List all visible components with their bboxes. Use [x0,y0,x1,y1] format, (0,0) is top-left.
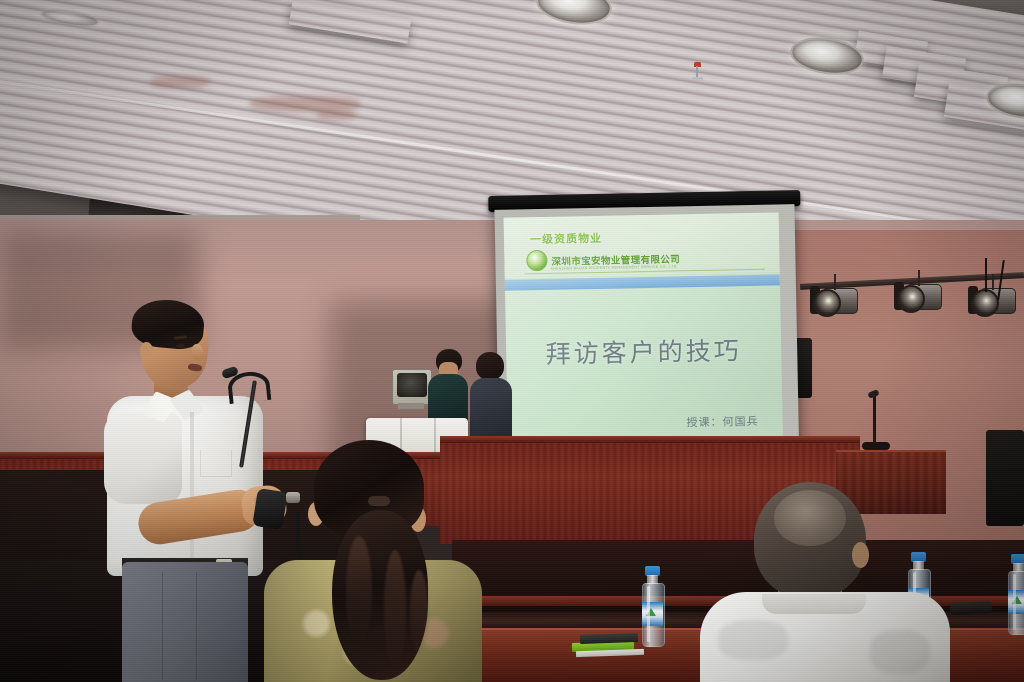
company-logo-icon [526,250,547,271]
bottle-highlight [1013,574,1016,630]
crt-screen [397,373,427,397]
slide-presenter-text: 授课：何国兵 [686,413,758,430]
shirt-fold [718,620,788,660]
woman-hair-tie [368,496,390,506]
bottle-highlight [647,586,650,642]
presenter-trousers [122,562,248,682]
shirt-fold [870,630,930,674]
man-scalp [774,490,846,546]
spotlight-yoke [834,274,836,290]
stage-spotlight [906,284,942,310]
man-attendee [700,470,960,682]
ceiling-stain [316,110,356,120]
presenter-sleeve [104,412,182,504]
background-person-2-head [476,352,504,380]
floor-loudspeaker [986,430,1024,526]
presenter-shirt-pocket [200,450,232,477]
light-cable [985,258,987,292]
spotlight-lens-icon [897,285,925,313]
trouser-pleat [162,572,163,680]
presenter-ear [140,342,153,360]
spotlight-lens-icon [813,289,841,317]
man-shirt-collar [762,594,866,614]
wood-panel-cap [440,436,860,443]
man-ear [852,542,869,568]
podium-mic-base [862,442,890,450]
conference-room-photo: 一级资质物业 深圳市宝安物业管理有限公司 SHENZHEN BAOAN PROP… [0,0,1024,682]
spotlight-lens-icon [971,289,999,317]
crt-monitor-stand [398,403,424,409]
spotlight-yoke [992,274,994,290]
slide-title-text: 拜访客户的技巧 [506,330,782,371]
podium-mic-stem [873,395,876,445]
woman-attendee [250,440,500,682]
ceiling-stain [150,76,210,88]
hair-strand [384,550,406,670]
presenter-nose [192,344,203,360]
sprinkler-cap [692,77,703,80]
slide-kicker-text: 一级资质物业 [530,230,602,247]
crt-monitor [392,369,432,405]
presenter-eye [176,344,185,348]
hair-strand [346,536,372,646]
trouser-pleat [196,572,197,680]
hair-strand [410,570,428,656]
spotlight-yoke [918,270,920,286]
stage-spotlight [822,288,858,314]
